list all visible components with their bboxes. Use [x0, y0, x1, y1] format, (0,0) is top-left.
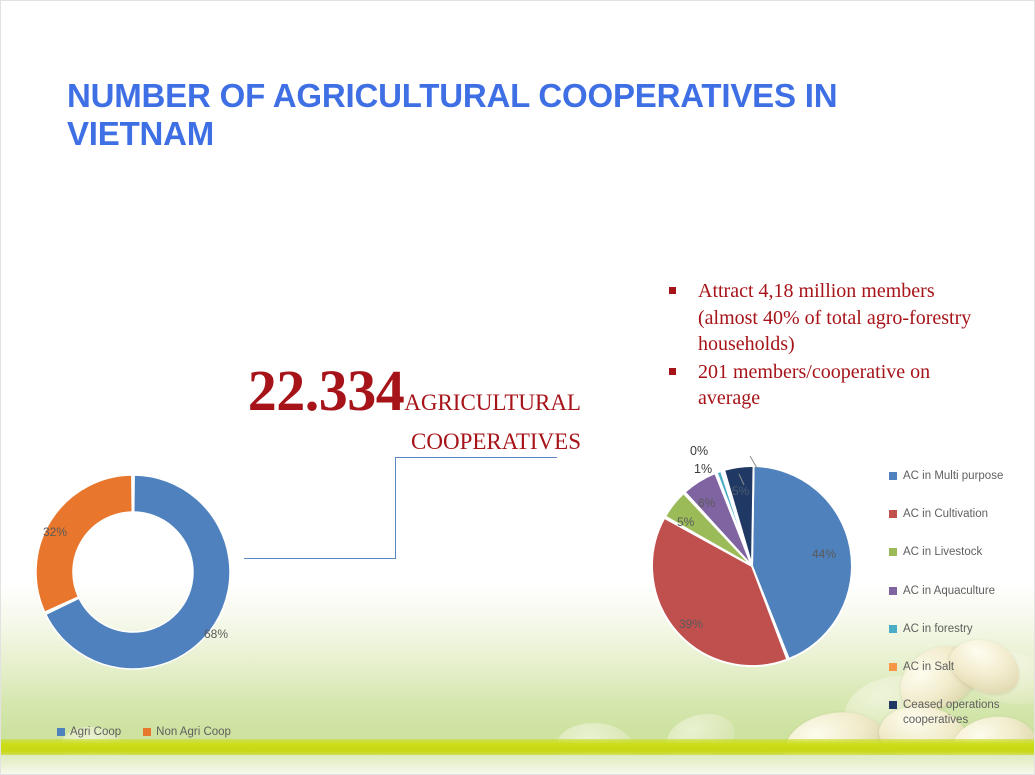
doughnut-chart	[23, 473, 267, 671]
legend-swatch-icon	[889, 510, 897, 518]
total-cooperatives-number: 22.334	[248, 358, 405, 423]
legend-item-label: AC in Salt	[903, 660, 954, 675]
legend-item[interactable]: Non Agri Coop	[143, 726, 231, 738]
pie-chart	[649, 441, 864, 681]
pie-slice-label: 6%	[698, 496, 715, 510]
decorative-seed	[555, 719, 637, 771]
legend-swatch-icon	[889, 472, 897, 480]
decorative-seed	[661, 707, 739, 765]
legend-item-label: Non Agri Coop	[156, 726, 231, 738]
legend-item-label: AC in Aquaculture	[903, 584, 995, 599]
legend-item-label: Agri Coop	[70, 726, 121, 738]
decorative-yellow-stripe	[1, 739, 1034, 756]
pie-slice-label: 1%	[694, 462, 712, 476]
legend-item[interactable]: AC in Multi purpose	[889, 469, 1034, 484]
list-item: 201 members/cooperative on average	[669, 359, 989, 412]
legend-item[interactable]: Agri Coop	[57, 726, 121, 738]
pie-slice-label: 44%	[812, 547, 836, 561]
doughnut-slice-label: 68%	[204, 627, 228, 641]
decorative-seed	[779, 706, 891, 775]
legend-item[interactable]: Ceased operations cooperatives	[889, 698, 1034, 728]
legend-item-label: AC in forestry	[903, 622, 973, 637]
legend-item[interactable]: AC in Salt	[889, 660, 1034, 675]
legend-item[interactable]: AC in forestry	[889, 622, 1034, 637]
doughnut-chart-svg	[23, 473, 267, 671]
legend-item[interactable]: AC in Cultivation	[889, 507, 1034, 522]
pie-chart-svg	[649, 441, 864, 681]
list-item: Attract 4,18 million members (almost 40%…	[669, 278, 989, 358]
decorative-band-footer	[1, 755, 1034, 774]
slide-canvas: NUMBER OF AGRICULTURAL COOPERATIVES IN V…	[0, 0, 1035, 775]
doughnut-slice	[36, 475, 132, 612]
square-bullet-icon	[669, 287, 676, 294]
callout-leader-line	[395, 457, 396, 559]
legend-item[interactable]: AC in Aquaculture	[889, 584, 1034, 599]
highlights-list: Attract 4,18 million members (almost 40%…	[669, 278, 989, 413]
legend-item-label: AC in Cultivation	[903, 507, 988, 522]
legend-swatch-icon	[889, 663, 897, 671]
legend-swatch-icon	[889, 548, 897, 556]
total-cooperatives-label: AGRICULTURAL COOPERATIVES	[404, 390, 581, 454]
pie-chart-legend: AC in Multi purposeAC in CultivationAC i…	[889, 469, 1034, 751]
legend-swatch-icon	[57, 728, 65, 736]
legend-swatch-icon	[143, 728, 151, 736]
page-title: NUMBER OF AGRICULTURAL COOPERATIVES IN V…	[67, 77, 972, 153]
list-item-label: 201 members/cooperative on average	[698, 359, 989, 412]
doughnut-chart-legend: Agri CoopNon Agri Coop	[57, 726, 231, 738]
legend-swatch-icon	[889, 701, 897, 709]
pie-slice-label: 5%	[732, 484, 749, 498]
list-item-label: Attract 4,18 million members (almost 40%…	[698, 278, 989, 358]
legend-swatch-icon	[889, 625, 897, 633]
pie-slice-label: 5%	[677, 515, 694, 529]
legend-item[interactable]: AC in Livestock	[889, 545, 1034, 560]
legend-item-label: AC in Livestock	[903, 545, 982, 560]
total-cooperatives-callout: 22.334AGRICULTURAL COOPERATIVES	[211, 357, 581, 460]
doughnut-slice-label: 32%	[43, 525, 67, 539]
pie-slice-label: 0%	[690, 444, 708, 458]
pie-slice-label: 39%	[679, 617, 703, 631]
square-bullet-icon	[669, 368, 676, 375]
legend-item-label: Ceased operations cooperatives	[903, 698, 1034, 728]
legend-swatch-icon	[889, 587, 897, 595]
legend-item-label: AC in Multi purpose	[903, 469, 1003, 484]
